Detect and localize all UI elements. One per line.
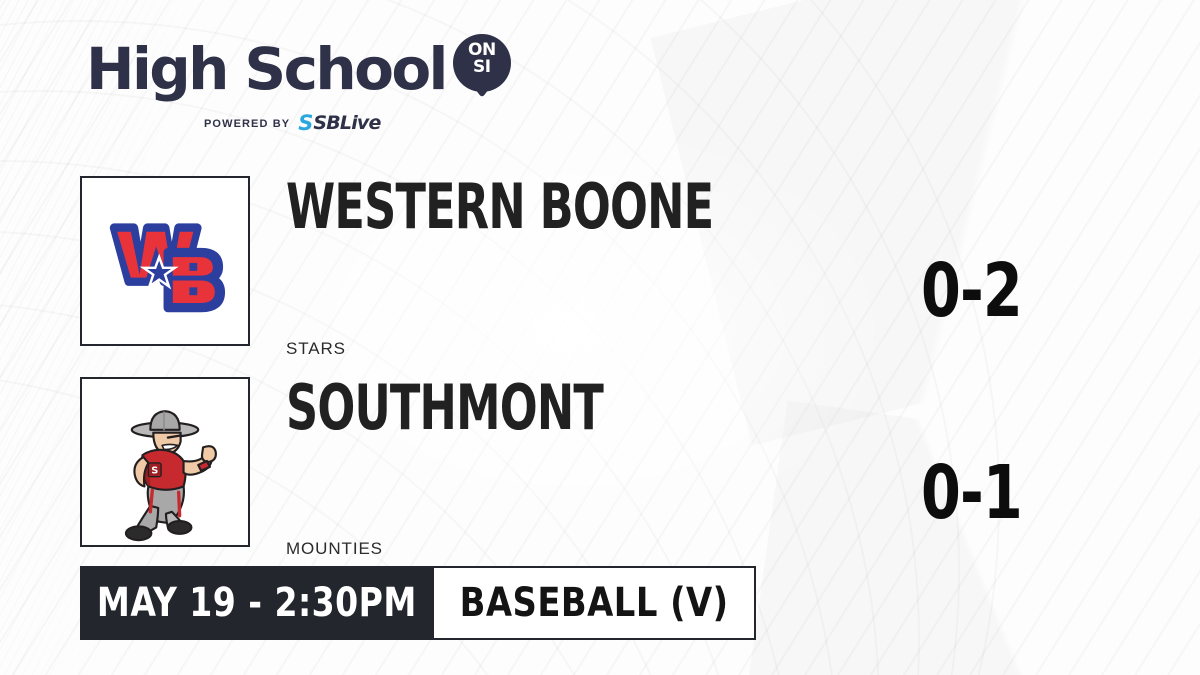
- sblive-word-upper: SBL: [313, 112, 351, 134]
- game-sport-text: BASEBALL (V): [459, 583, 728, 623]
- team-logo-box-western-boone: [80, 176, 250, 346]
- mountie-mascot-logo: S: [82, 379, 248, 545]
- brand-header: High School ON SI POWERED BY S SBLive: [86, 34, 511, 134]
- game-datetime-block: MAY 19 - 2:30PM: [80, 566, 434, 640]
- team-name-western-boone: WESTERN BOONE: [286, 176, 713, 238]
- on-si-pin-text: ON SI: [453, 42, 511, 77]
- sblive-s-mark-icon: S: [298, 113, 311, 134]
- high-school-wordmark: High School: [86, 42, 446, 97]
- game-info-bar: MAY 19 - 2:30PM BASEBALL (V): [80, 566, 756, 640]
- brand-wordmark-row: High School ON SI: [86, 34, 511, 106]
- team-mascot-label-mounties: MOUNTIES: [286, 539, 383, 559]
- matchup-graphic: High School ON SI POWERED BY S SBLive: [0, 0, 1200, 675]
- team-record-western-boone: 0-2: [921, 254, 1022, 328]
- team-logo-box-southmont: S: [80, 377, 250, 547]
- game-datetime-text: MAY 19 - 2:30PM: [97, 583, 417, 623]
- sblive-wordmark: SBLive: [313, 114, 380, 133]
- team-name-southmont: SOUTHMONT: [286, 377, 603, 439]
- wb-monogram-logo: [82, 178, 248, 344]
- pin-text-si: SI: [453, 59, 511, 76]
- sblive-logo: S SBLive: [298, 113, 380, 134]
- svg-text:S: S: [151, 466, 158, 477]
- team-record-southmont: 0-1: [921, 456, 1022, 530]
- team-mascot-label-stars: STARS: [286, 339, 346, 359]
- powered-by-label: POWERED BY: [204, 118, 290, 130]
- powered-by-row: POWERED BY S SBLive: [204, 113, 511, 134]
- sblive-word-lower: ive: [351, 112, 380, 134]
- game-sport-block: BASEBALL (V): [434, 566, 756, 640]
- on-si-pin-icon: ON SI: [453, 34, 511, 106]
